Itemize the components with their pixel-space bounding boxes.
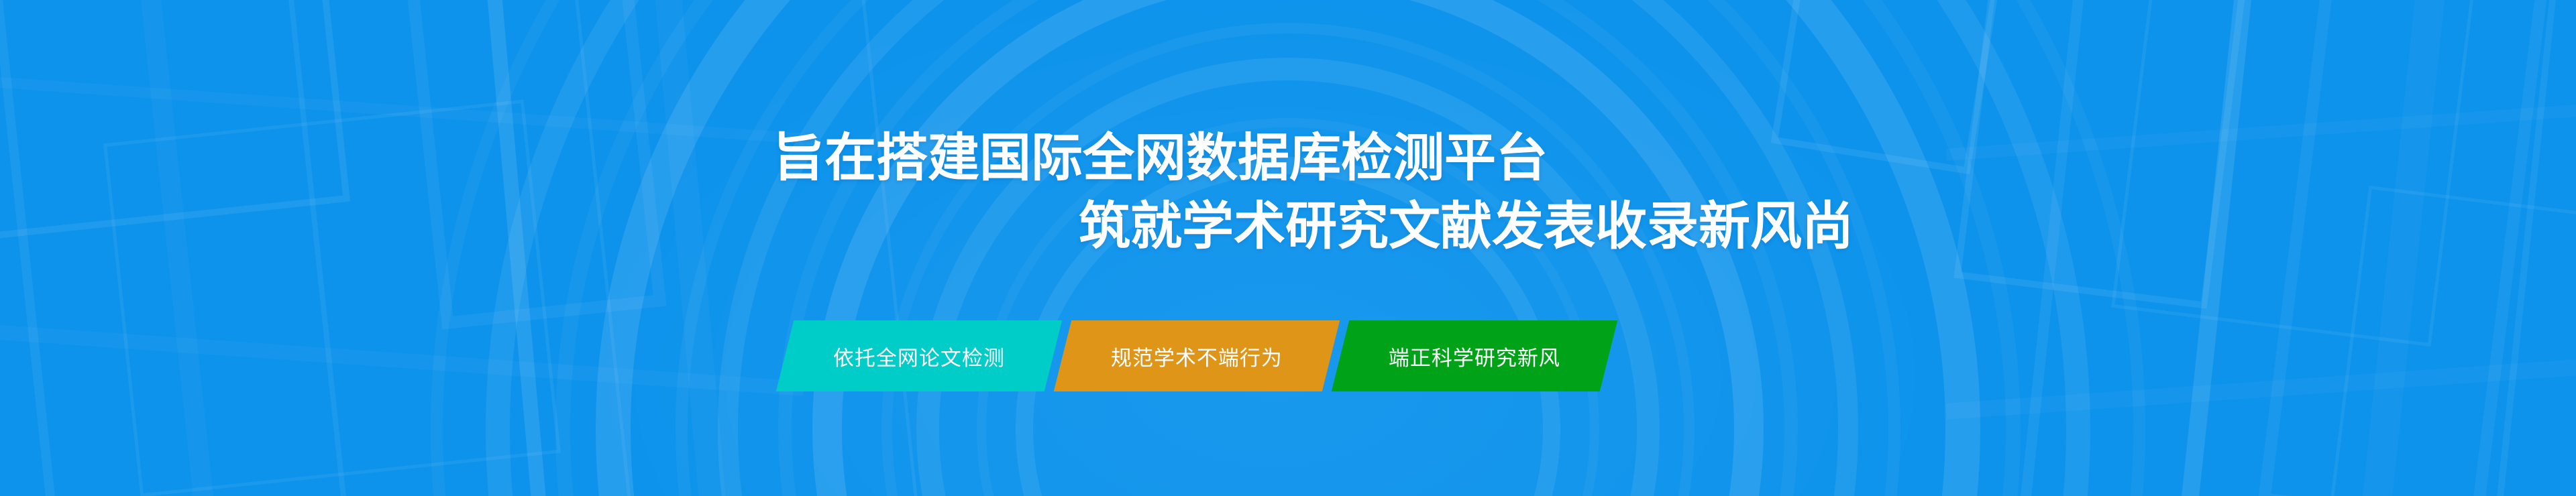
badge-label: 依托全网论文检测 [833,341,1005,371]
badge-research-ethics[interactable]: 端正科学研究新风 [1332,320,1617,391]
promotional-banner: 旨在搭建国际全网数据库检测平台 筑就学术研究文献发表收录新风尚 依托全网论文检测… [0,0,2576,496]
feature-badge-group: 依托全网论文检测 规范学术不端行为 端正科学研究新风 [765,320,1838,391]
badge-academic-misconduct[interactable]: 规范学术不端行为 [1054,320,1340,391]
headline-line-1: 旨在搭建国际全网数据库检测平台 [773,133,1548,184]
badge-label: 端正科学研究新风 [1389,341,1560,371]
badge-label: 规范学术不端行为 [1111,341,1283,371]
headline-line-2: 筑就学术研究文献发表收录新风尚 [1079,201,1854,253]
badge-plagiarism-detection[interactable]: 依托全网论文检测 [776,320,1062,391]
